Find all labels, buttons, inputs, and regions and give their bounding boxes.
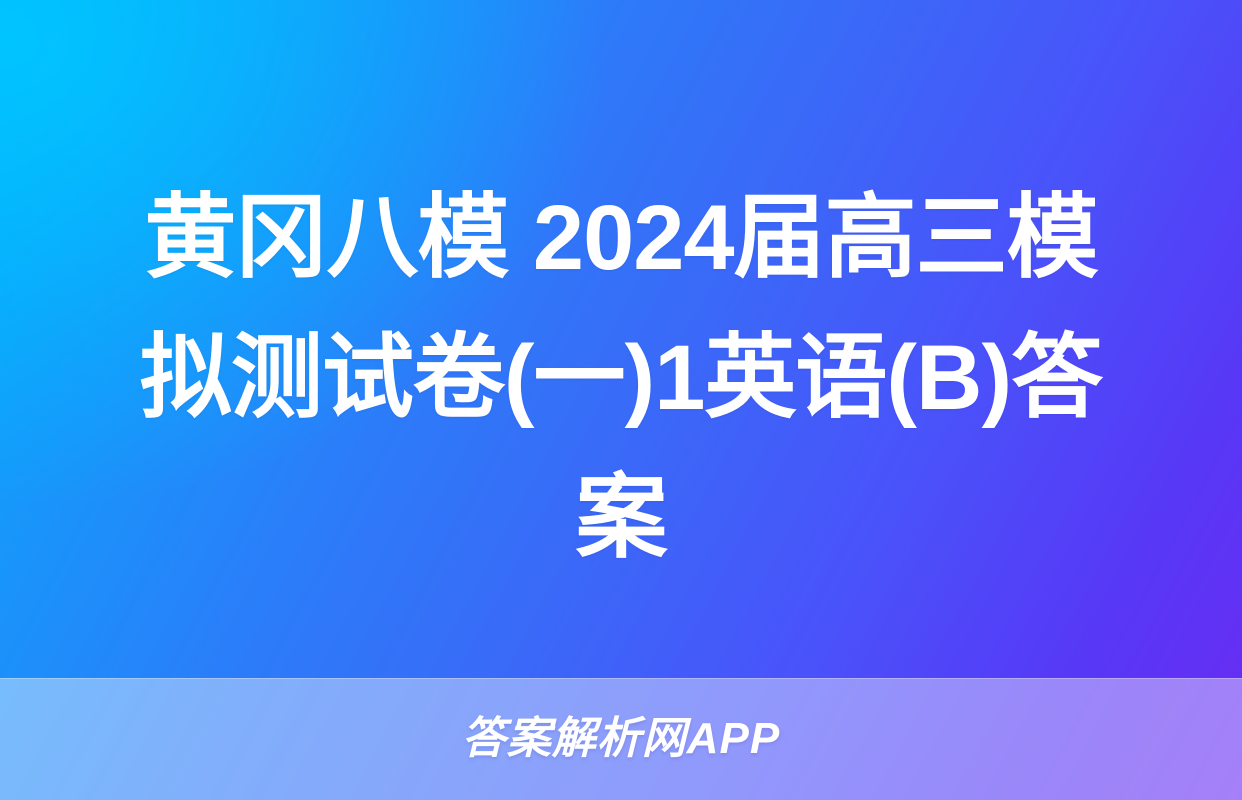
title-line-2: 拟测试卷(一)1英语(B)答 <box>72 308 1170 448</box>
app-watermark-label: 答案解析网APP <box>462 717 780 761</box>
title-line-1: 黄冈八模 2024届高三模 <box>72 168 1170 308</box>
title-line-3: 案 <box>72 448 1170 588</box>
footer-watermark-band: 答案解析网APP <box>0 678 1242 800</box>
poster-card: 黄冈八模 2024届高三模 拟测试卷(一)1英语(B)答 案 答案解析网APP <box>0 0 1242 800</box>
page-title: 黄冈八模 2024届高三模 拟测试卷(一)1英语(B)答 案 <box>72 168 1170 588</box>
